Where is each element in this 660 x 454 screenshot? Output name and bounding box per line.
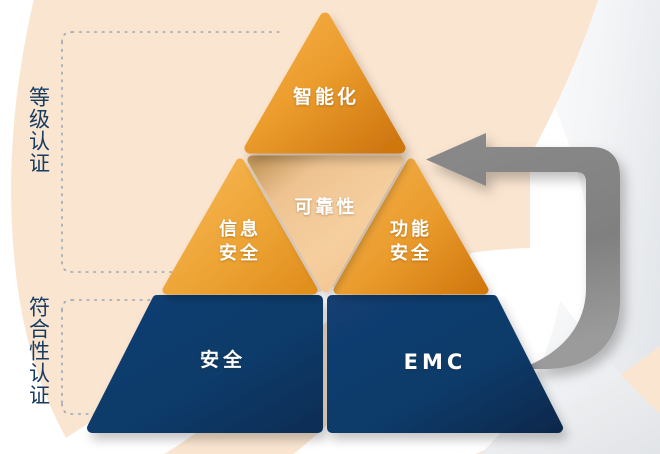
shape-emc-trapezoid[interactable]	[332, 300, 558, 428]
shape-intelligence-triangle[interactable]	[250, 18, 400, 148]
shape-safety-trapezoid[interactable]	[92, 300, 318, 428]
pyramid-graphic	[0, 0, 660, 454]
diagram-canvas: 等级认证 符合性认证 智能化 信息 安全 可靠性 功能 安全 安全 ЕMC	[0, 0, 660, 454]
side-label-level-certification: 等级认证	[26, 86, 50, 174]
side-label-compliance-certification: 符合性认证	[26, 296, 50, 406]
